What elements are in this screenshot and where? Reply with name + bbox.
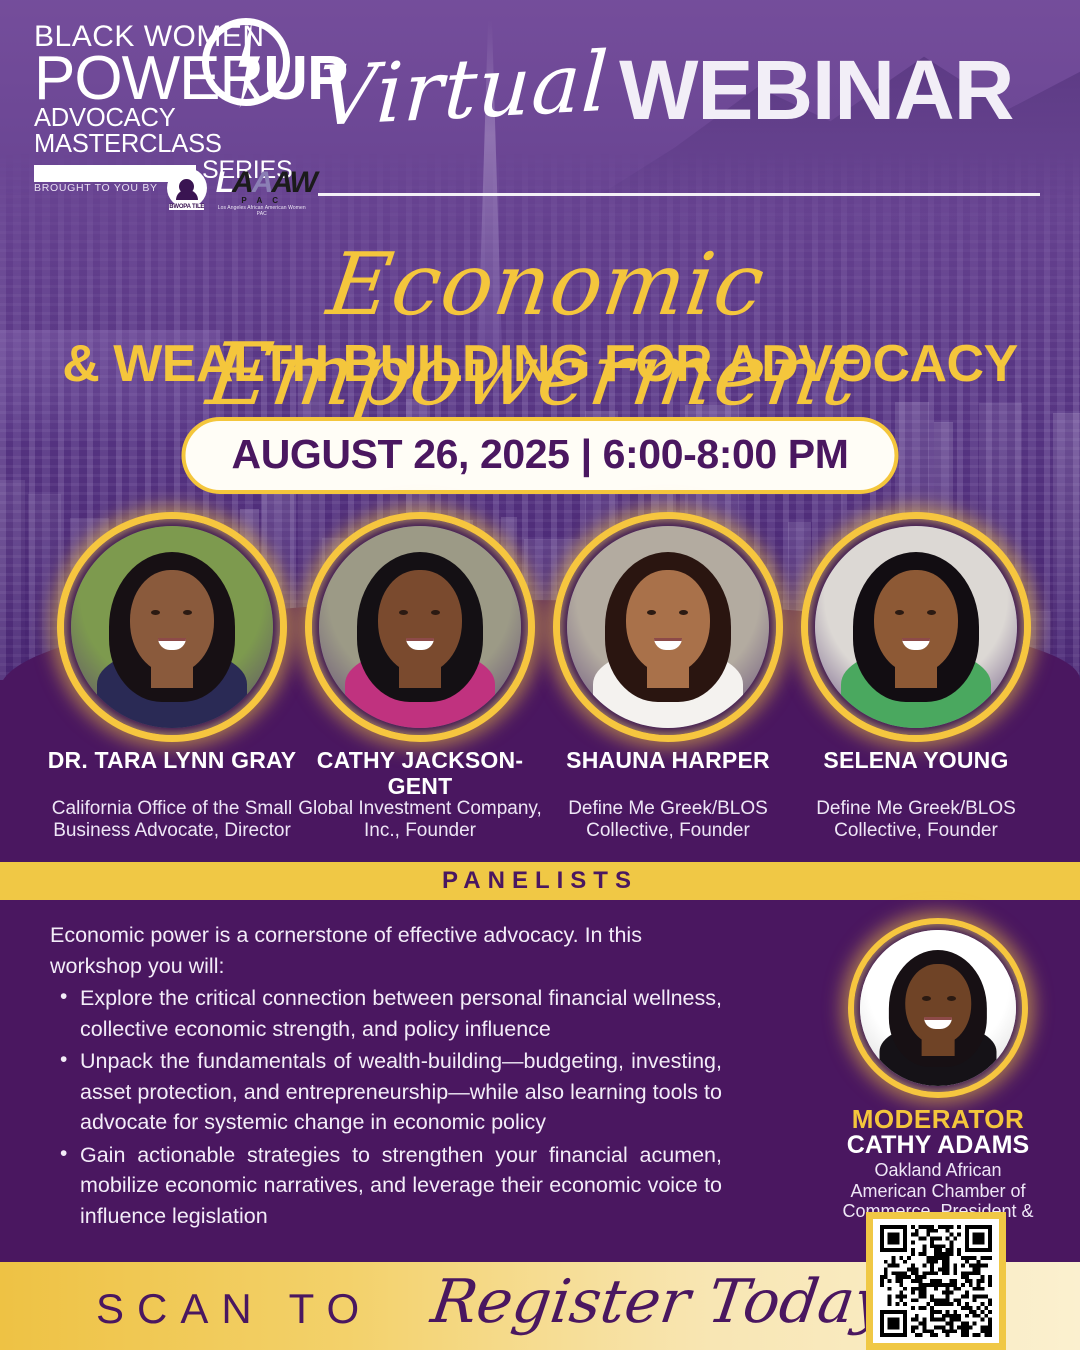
photo-gold-ring (57, 512, 287, 742)
panelist-photo (57, 512, 287, 742)
brand-line-advocacy: ADVOCACY MASTERCLASS (34, 106, 316, 157)
portrait-illustration (815, 526, 1017, 728)
panelist-name: CATHY JACKSON-GENT (290, 748, 550, 800)
panelist-name: SHAUNA HARPER (538, 748, 798, 774)
description-bullet-list: Explore the critical connection between … (50, 983, 722, 1231)
photo-inner (71, 526, 273, 728)
title-bold-line: & WEALTH BUILDING FOR ADVOCACY (0, 338, 1080, 390)
portrait-neck (922, 1035, 955, 1057)
bwopa-body-shape (176, 190, 198, 200)
portrait-face (378, 570, 462, 674)
photo-gold-ring (553, 512, 783, 742)
portrait-eye-right (927, 610, 936, 615)
panelist-title: California Office of the Small Business … (34, 798, 310, 843)
portrait-eye-right (431, 610, 440, 615)
panelist-photo (801, 512, 1031, 742)
laaaw-pac-logo: LAAAW P A C Los Angeles African American… (216, 168, 308, 208)
brought-to-you-by-label: BROUGHT TO YOU BY (34, 182, 158, 194)
photo-gold-ring (305, 512, 535, 742)
partners-row: BROUGHT TO YOU BY BWOPA TILE LAAAW P A C… (34, 168, 308, 208)
portrait-face (905, 964, 971, 1045)
qr-code[interactable] (873, 1219, 999, 1343)
portrait-eye-left (895, 610, 904, 615)
panelist-photo-row (0, 512, 1080, 742)
scan-to-label: SCAN TO (96, 1285, 372, 1333)
moderator-label: MODERATOR (838, 1106, 1038, 1132)
portrait-illustration (71, 526, 273, 728)
photo-inner (815, 526, 1017, 728)
register-today-script: Register Today! (428, 1272, 917, 1332)
bwopa-tile-logo-icon: BWOPA TILE (167, 168, 207, 208)
panelist-title: Define Me Greek/BLOS Collective, Founder (778, 798, 1054, 843)
panelists-section-bar: PANELISTS (0, 862, 1080, 900)
portrait-neck (895, 660, 937, 688)
title-script-line: Economic Empowerment (0, 240, 1080, 421)
portrait-neck (399, 660, 441, 688)
portrait-eye-right (679, 610, 688, 615)
moderator-name: CATHY ADAMS (838, 1132, 1038, 1159)
portrait-eye-left (151, 610, 160, 615)
portrait-eye-left (399, 610, 408, 615)
qr-code-graphic (879, 1225, 993, 1337)
photo-gold-ring (848, 918, 1028, 1098)
portrait-eye-right (183, 610, 192, 615)
bwopa-tile-label: BWOPA TILE (169, 204, 204, 210)
virtual-script-word: Virtual (316, 42, 611, 140)
header-divider (318, 193, 1040, 196)
photo-inner (567, 526, 769, 728)
webinar-heading: VirtualWEBINAR (318, 48, 1048, 139)
portrait-eye-left (922, 996, 931, 1001)
panelist-name: DR. TARA LYNN GRAY (42, 748, 302, 774)
portrait-eye-right (947, 996, 956, 1001)
panelist-photo (553, 512, 783, 742)
moderator-photo (848, 918, 1028, 1098)
event-date-badge: AUGUST 26, 2025 | 6:00-8:00 PM (181, 417, 898, 494)
description-bullet: Explore the critical connection between … (50, 983, 722, 1044)
photo-gold-ring (801, 512, 1031, 742)
qr-code-frame[interactable] (866, 1212, 1006, 1350)
description-bullet: Gain actionable strategies to strengthen… (50, 1140, 722, 1232)
portrait-neck (151, 660, 193, 688)
moderator-block: MODERATOR CATHY ADAMS Oakland African Am… (838, 918, 1038, 1242)
description-copy: Economic power is a cornerstone of effec… (50, 920, 722, 1231)
photo-inner (319, 526, 521, 728)
laaaw-full-name-label: Los Angeles African American Women PAC (216, 205, 308, 217)
panelist-title: Global Investment Company, Inc., Founder (282, 798, 558, 843)
description-bullet: Unpack the fundamentals of wealth-buildi… (50, 1046, 722, 1138)
portrait-neck (647, 660, 689, 688)
portrait-eye-left (647, 610, 656, 615)
panelist-name: SELENA YOUNG (786, 748, 1046, 774)
title-script-text: Economic Empowerment (0, 240, 1080, 421)
webinar-word: WEBINAR (619, 48, 1013, 132)
portrait-illustration (567, 526, 769, 728)
portrait-illustration (860, 930, 1016, 1086)
webinar-flyer: BLACK WOMEN POWERUP ADVOCACY MASTERCLASS… (0, 0, 1080, 1350)
photo-inner (860, 930, 1016, 1086)
panelist-title: Define Me Greek/BLOS Collective, Founder (530, 798, 806, 843)
description-intro: Economic power is a cornerstone of effec… (50, 920, 722, 981)
portrait-face (130, 570, 214, 674)
laaaw-wordmark: LAAAW (216, 168, 308, 198)
panelist-photo (305, 512, 535, 742)
portrait-face (626, 570, 710, 674)
panelists-section-label: PANELISTS (442, 867, 638, 895)
portrait-illustration (319, 526, 521, 728)
portrait-face (874, 570, 958, 674)
